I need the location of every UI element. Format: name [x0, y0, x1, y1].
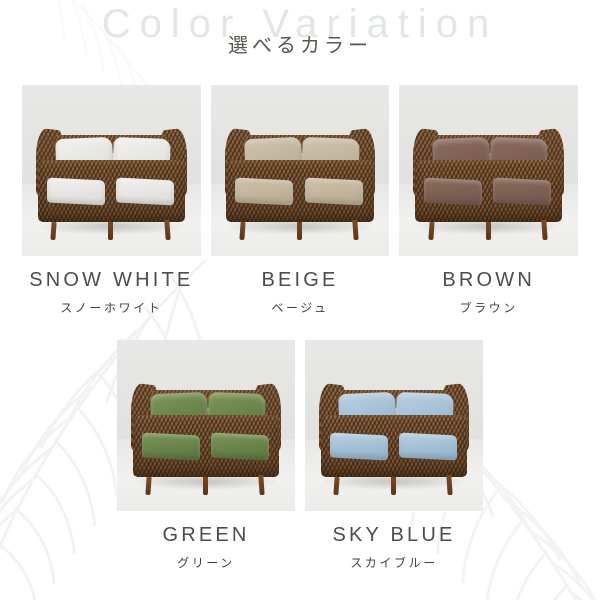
variant-caption: BEIGE ベージュ [211, 256, 390, 316]
sofa-leg-front-right [164, 220, 171, 241]
seat-cushion-left [142, 433, 200, 461]
variant-label-en: SNOW WHITE [22, 269, 201, 292]
variant-label-en: BROWN [399, 269, 578, 292]
seat-cushion-right [305, 178, 363, 206]
sofa-illustration [317, 374, 470, 494]
seat-cushion-right [116, 178, 174, 206]
sofa-illustration [412, 119, 566, 239]
product-photo-sky-blue[interactable] [305, 340, 483, 511]
variant-caption: SKY BLUE スカイブルー [305, 511, 483, 571]
seat-cushion-right [211, 433, 269, 461]
variant-card-beige[interactable]: BEIGE ベージュ [211, 85, 390, 316]
product-photo-beige[interactable] [211, 85, 390, 256]
sofa-illustration [129, 374, 282, 494]
variant-label-jp: ブラウン [399, 299, 578, 316]
variant-card-green[interactable]: GREEN グリーン [117, 340, 295, 571]
variant-label-en: SKY BLUE [305, 524, 483, 547]
variant-label-jp: スノーホワイト [22, 299, 201, 316]
seat-cushion-left [330, 433, 388, 461]
seat-cushion-left [424, 178, 482, 206]
variant-label-en: GREEN [117, 524, 295, 547]
seat-cushion-left [47, 178, 105, 206]
variant-label-en: BEIGE [211, 269, 390, 292]
variant-caption: GREEN グリーン [117, 511, 295, 571]
seat-cushion-right [399, 433, 457, 461]
sofa-leg-front-left [239, 222, 245, 240]
variant-label-jp: スカイブルー [305, 554, 483, 571]
variant-caption: BROWN ブラウン [399, 256, 578, 316]
variant-card-sky-blue[interactable]: SKY BLUE スカイブルー [305, 340, 483, 571]
variant-row-bottom: GREEN グリーン [117, 340, 483, 571]
variant-label-jp: ベージュ [211, 299, 390, 316]
variant-card-snow-white[interactable]: SNOW WHITE スノーホワイト [22, 85, 201, 316]
variant-label-jp: グリーン [117, 554, 295, 571]
product-photo-snow-white[interactable] [22, 85, 201, 256]
variant-row-top: SNOW WHITE スノーホワイト [22, 85, 578, 316]
variant-card-brown[interactable]: BROWN ブラウン [399, 85, 578, 316]
page-header: Color Variation 選べるカラー [0, 0, 600, 72]
color-variation-page: Color Variation 選べるカラー [0, 0, 600, 600]
product-photo-brown[interactable] [399, 85, 578, 256]
sofa-illustration [35, 119, 189, 239]
header-title-jp: 選べるカラー [0, 29, 600, 58]
variant-caption: SNOW WHITE スノーホワイト [22, 256, 201, 316]
seat-cushion-right [493, 178, 551, 206]
seat-cushion-left [235, 178, 293, 206]
sofa-illustration [223, 119, 377, 239]
product-photo-green[interactable] [117, 340, 295, 511]
sofa-leg-front-left [428, 222, 434, 240]
